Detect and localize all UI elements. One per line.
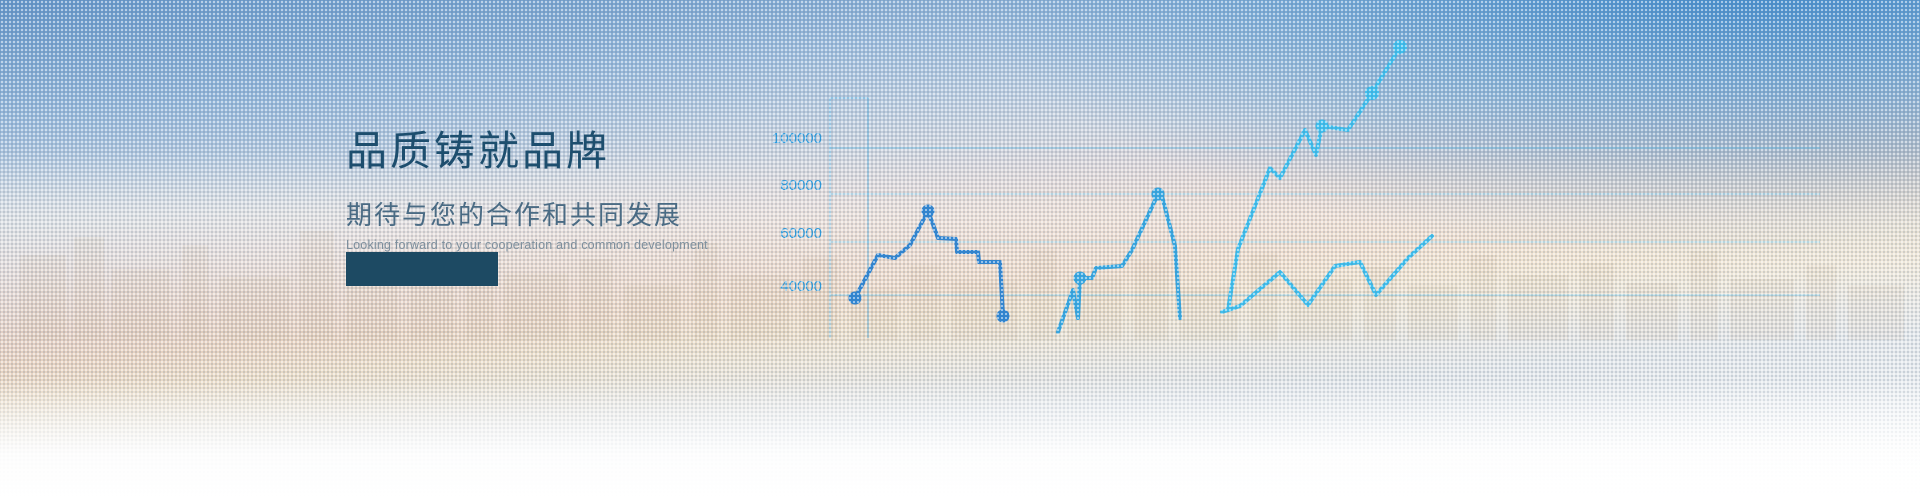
y-tick-label: 40000 [780,278,822,295]
line-chart: 100000 80000 60000 40000 [760,0,1920,400]
hero-banner: 100000 80000 60000 40000 [0,0,1920,500]
data-point-marker [1074,272,1087,285]
page-title: 品质铸就品牌 [346,126,776,177]
chart-series-mid [1058,188,1180,333]
banner-subtitle: 期待与您的合作和共同发展 [346,195,776,232]
y-tick-label: 60000 [780,225,822,242]
chart-series-dark [849,205,1010,323]
data-point-marker [1393,40,1407,54]
cta-button[interactable] [346,252,498,286]
data-point-marker [1152,188,1165,201]
chart-axis-frame [830,98,868,338]
chart-gridlines [830,148,1820,295]
chart-canvas: 100000 80000 60000 40000 [760,0,1920,400]
data-point-marker [849,292,862,305]
chart-series-light-lower [1222,236,1432,312]
data-point-marker [997,310,1010,323]
banner-copy: 品质铸就品牌 期待与您的合作和共同发展 Looking forward to y… [346,126,776,252]
data-point-marker [1316,120,1329,133]
banner-subtitle-english: Looking forward to your cooperation and … [346,238,776,252]
chart-series-light-upper [1228,40,1407,310]
data-point-marker [922,205,935,218]
y-tick-label: 100000 [772,130,822,147]
data-point-marker [1365,86,1379,100]
y-tick-label: 80000 [780,177,822,194]
chart-y-axis-labels: 100000 80000 60000 40000 [772,130,822,295]
